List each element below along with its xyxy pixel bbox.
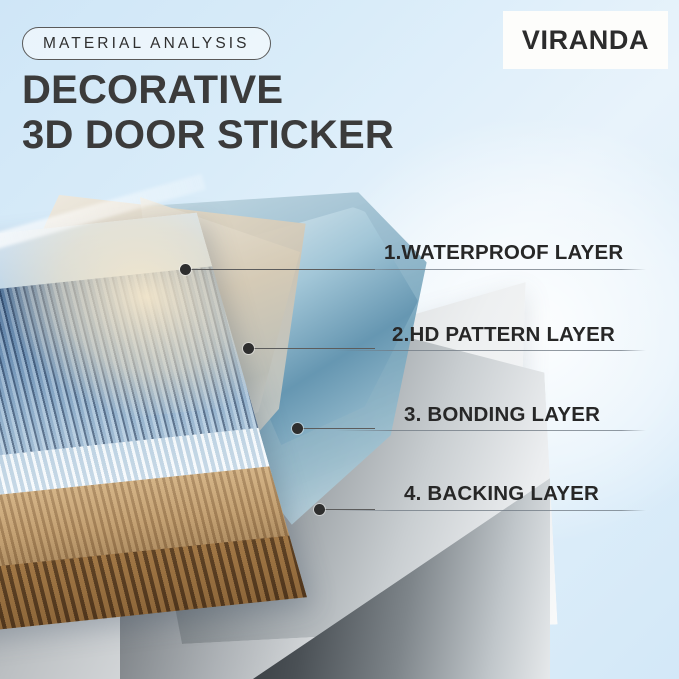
brand-name: VIRANDA (522, 25, 649, 56)
callout-dot-4 (314, 504, 325, 515)
callout-label-4: 4. BACKING LAYER (404, 482, 599, 506)
callout-dot-3 (292, 423, 303, 434)
callout-leader-line-3 (297, 428, 375, 429)
brand-logo-box: VIRANDA (503, 11, 668, 69)
callout-label-3: 3. BONDING LAYER (404, 403, 600, 427)
poster-canvas: 1.WATERPROOF LAYER2.HD PATTERN LAYER3. B… (0, 0, 679, 679)
callout-underline-1 (336, 269, 646, 270)
callout-dot-2 (243, 343, 254, 354)
eyebrow-pill: MATERIAL ANALYSIS (22, 27, 271, 60)
callout-label-2: 2.HD PATTERN LAYER (392, 323, 615, 347)
callout-underline-2 (336, 350, 646, 351)
headline-line-2: 3D DOOR STICKER (22, 113, 492, 158)
callout-leader-line-2 (248, 348, 375, 349)
callout-underline-3 (336, 430, 646, 431)
callout-dot-1 (180, 264, 191, 275)
eyebrow-label: MATERIAL ANALYSIS (43, 35, 250, 53)
page-title: DECORATIVE 3D DOOR STICKER (22, 68, 492, 158)
headline-line-1: DECORATIVE (22, 68, 492, 113)
callout-underline-4 (336, 510, 646, 511)
callout-label-1: 1.WATERPROOF LAYER (384, 241, 623, 265)
